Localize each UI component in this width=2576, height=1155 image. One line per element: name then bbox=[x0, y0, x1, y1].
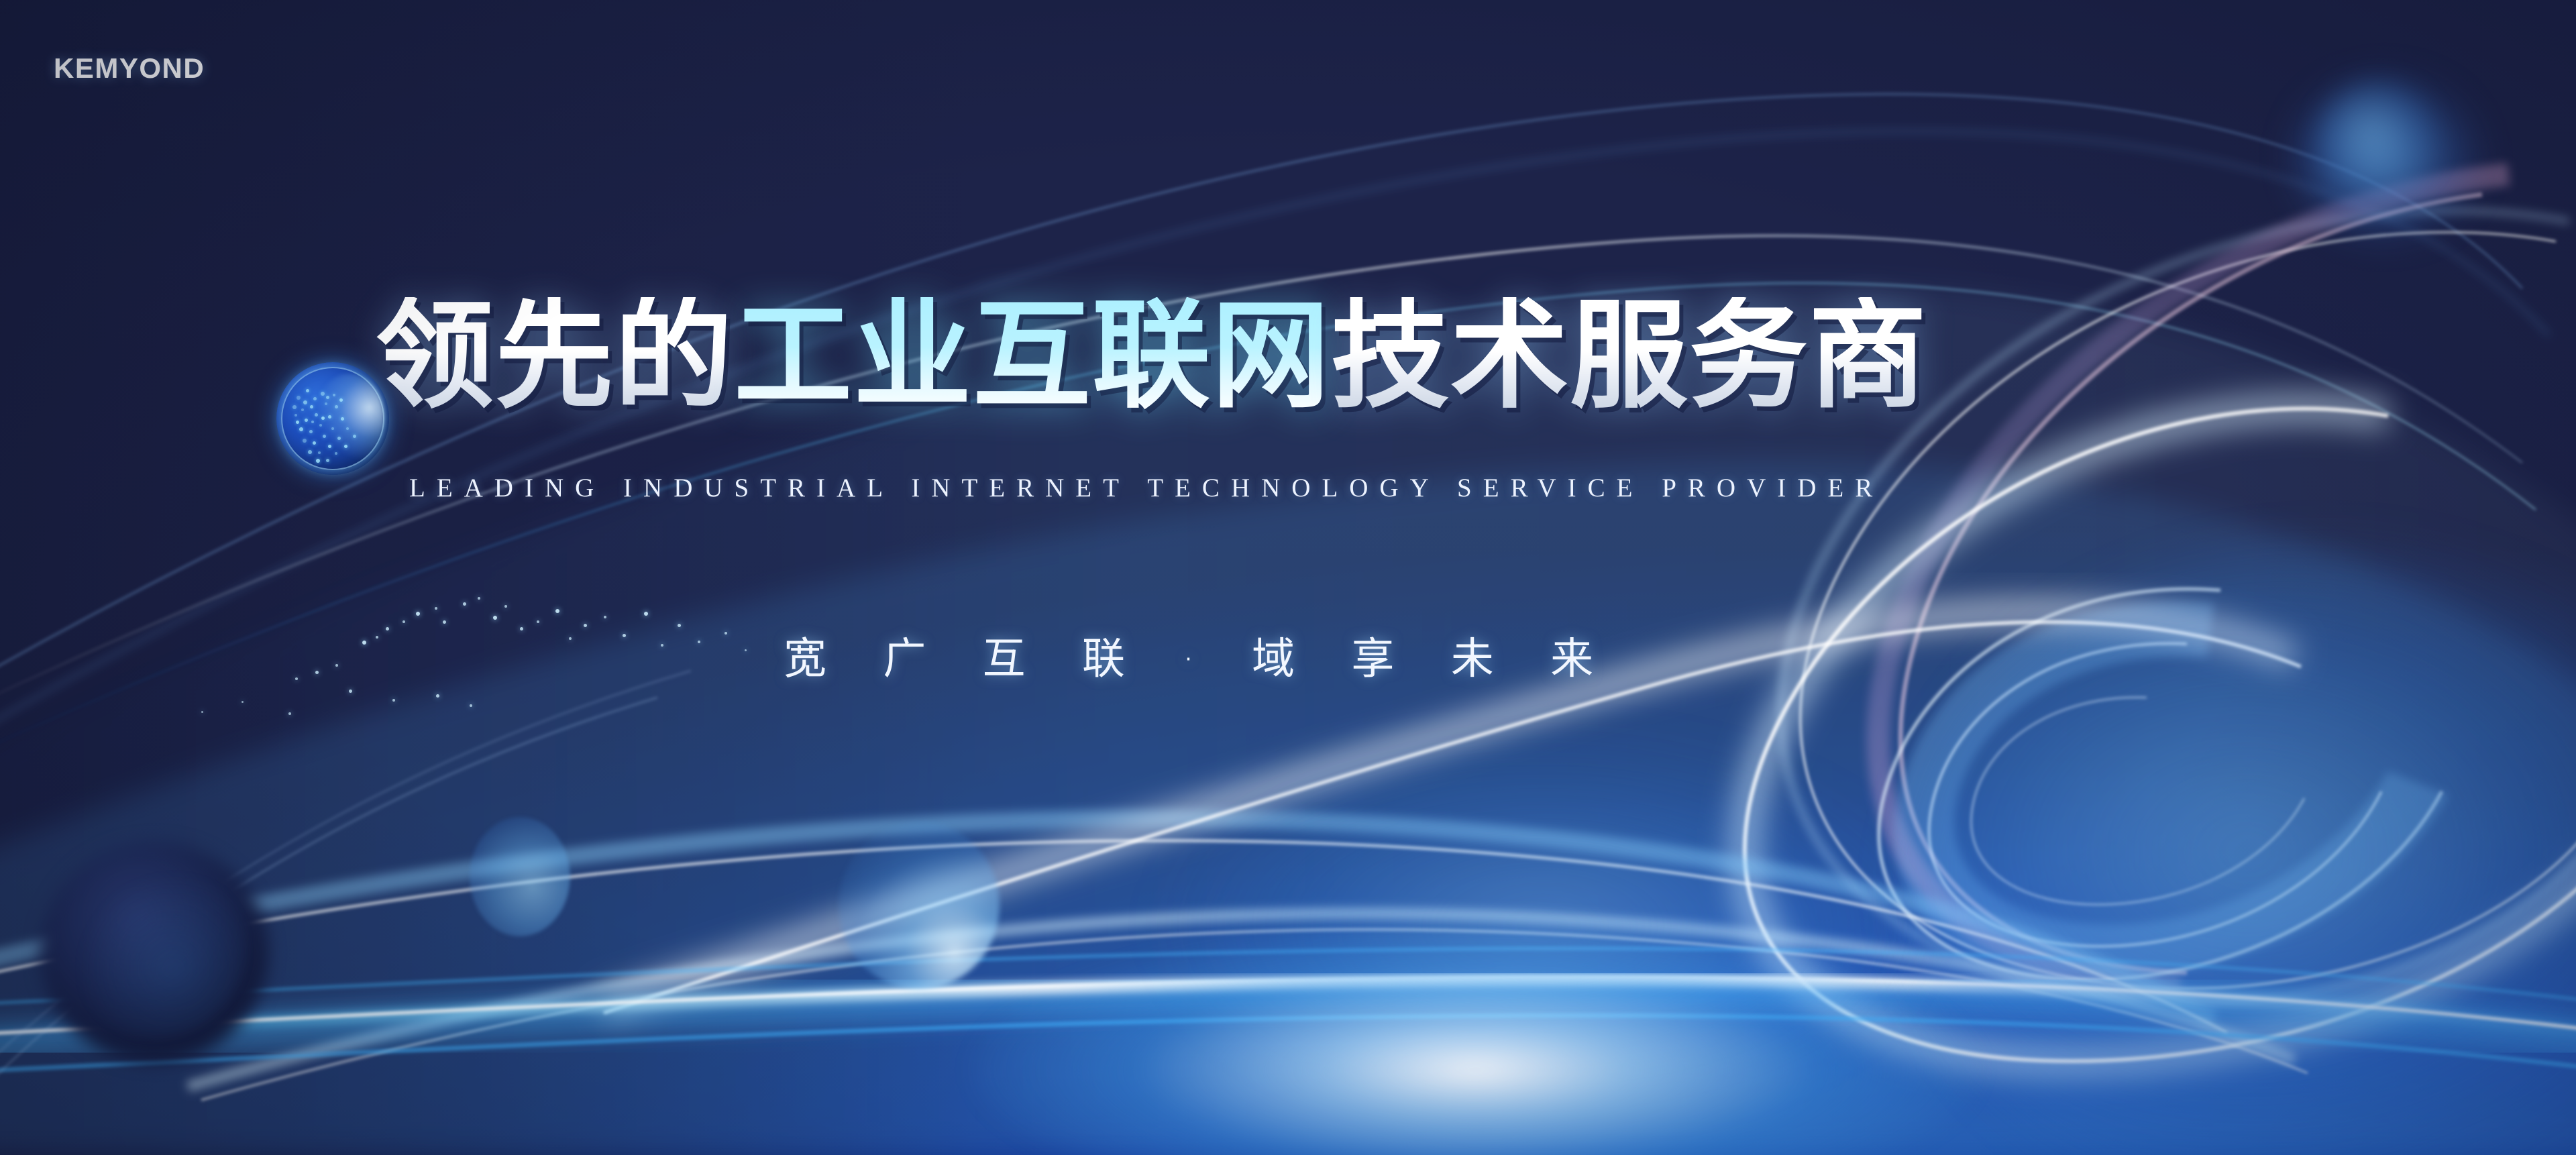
headline-part-leading: 领先的 bbox=[376, 297, 734, 415]
tech-globe-highlight bbox=[315, 374, 384, 463]
dark-sphere-rim bbox=[66, 857, 246, 1037]
english-subtitle: LEADING INDUSTRIAL INTERNET TECHNOLOGY S… bbox=[409, 473, 1884, 503]
tagline: 宽 广 互 联 · 域 享 未 来 bbox=[784, 624, 1615, 686]
translucent-sphere bbox=[470, 817, 570, 936]
glowing-sphere bbox=[839, 822, 1000, 989]
headline-part-service-provider: 技术服务商 bbox=[1331, 297, 1928, 415]
brand-logo: KEMYOND bbox=[54, 52, 205, 85]
headline: 领先的工业互联网技术服务商 bbox=[376, 297, 1928, 415]
headline-part-industrial-internet: 工业互联网 bbox=[734, 297, 1331, 415]
banner-canvas: KEMYOND 领先的工业互联网技术服务商 LEADING INDUSTRIAL… bbox=[0, 0, 2576, 1155]
top-right-sphere bbox=[2318, 80, 2438, 201]
light-ribbon-swirl bbox=[0, 0, 2576, 1155]
tech-globe-icon bbox=[276, 362, 389, 475]
